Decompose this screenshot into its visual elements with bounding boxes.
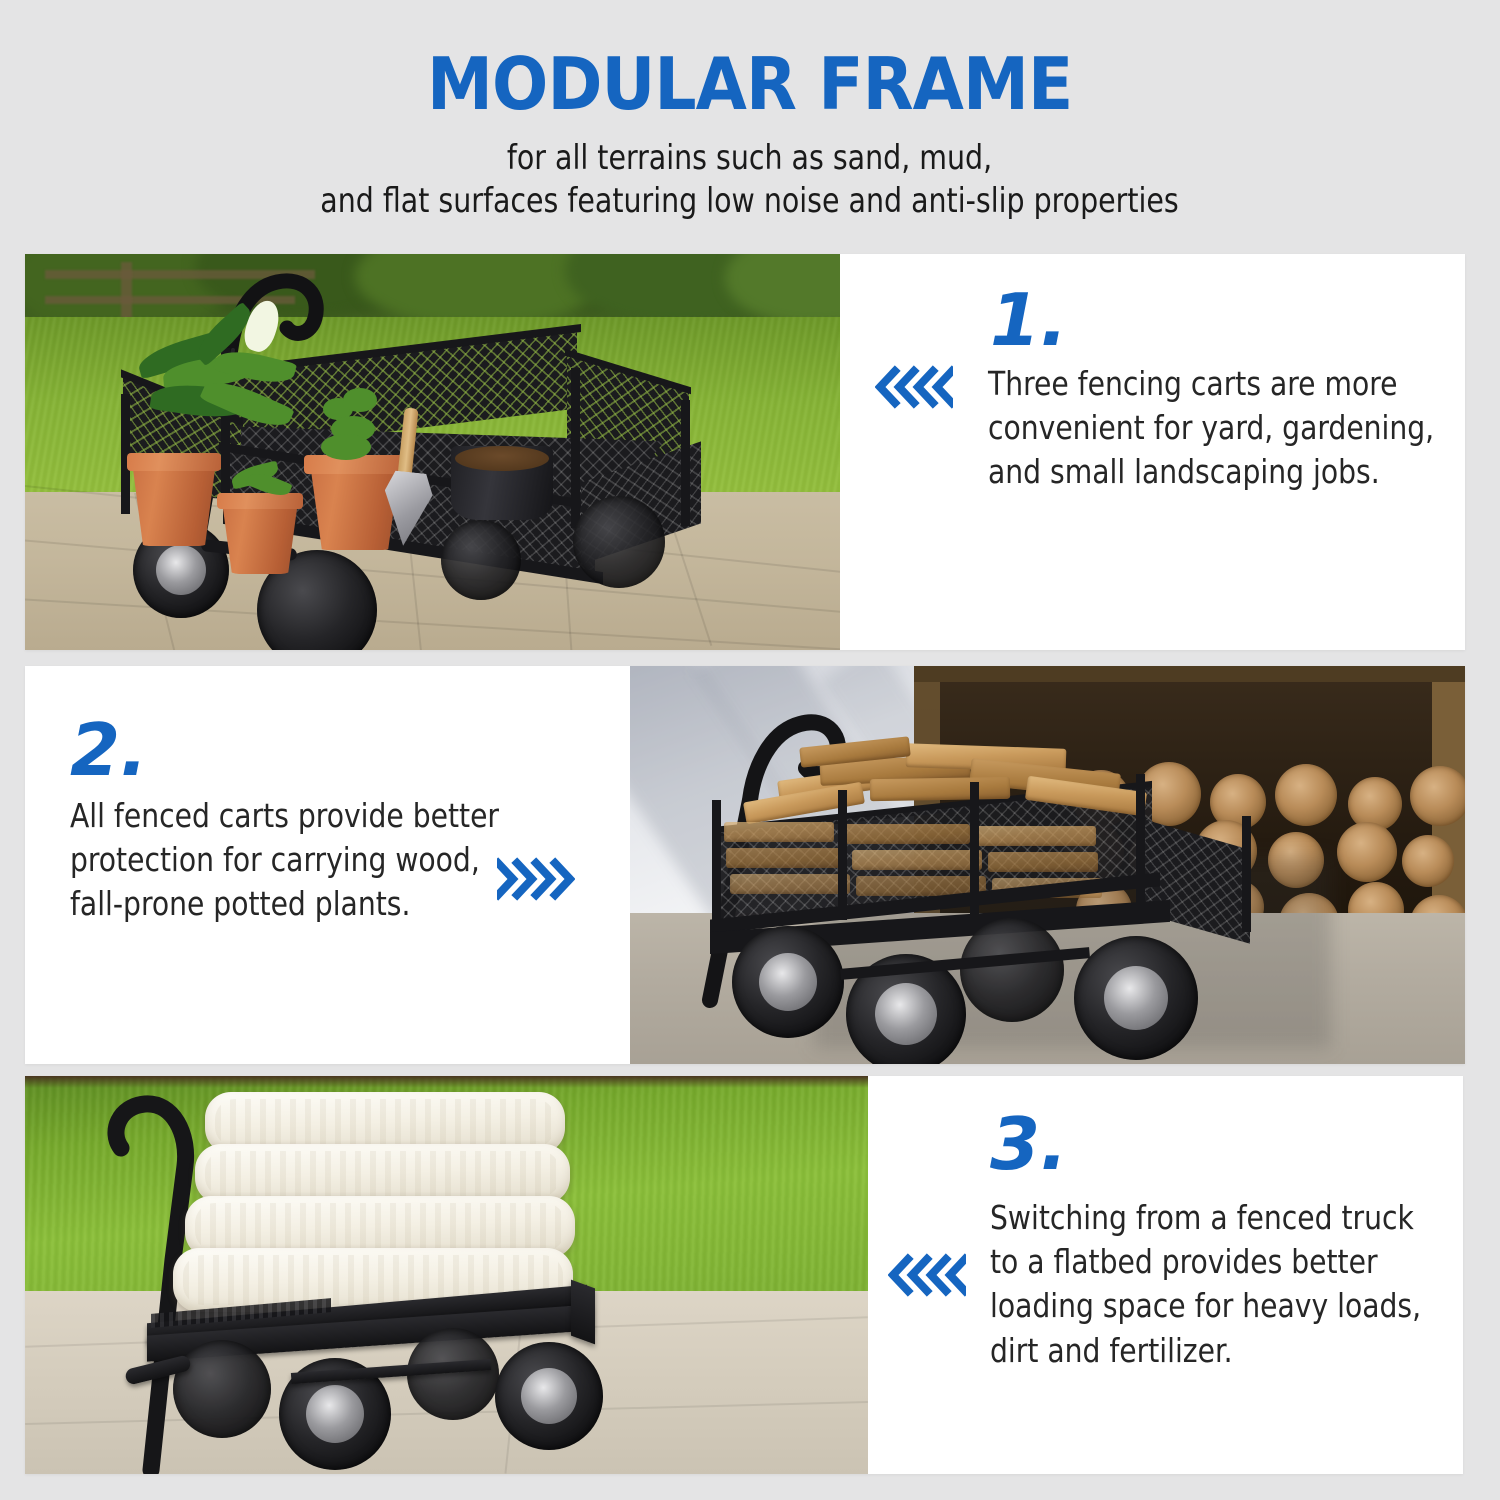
feature-description-1: Three fencing carts are more convenient …: [988, 362, 1435, 495]
page-subtitle: for all terrains such as sand, mud, and …: [321, 137, 1179, 222]
feature-description-3: Switching from a fenced truck to a flatb…: [990, 1196, 1446, 1373]
subtitle-line-2: and flat surfaces featuring low noise an…: [321, 180, 1179, 223]
chevron-left-icon-3: [888, 1252, 966, 1298]
chevron-right-icon-2: [497, 856, 575, 902]
cart-photo-garden: [25, 254, 840, 650]
feature-text-1: 1. Three fencing carts are more convenie…: [870, 254, 1465, 650]
garden-cart-illustration: [105, 344, 735, 634]
cart-photo-flatbed: [25, 1076, 868, 1474]
step-number-2: 2.: [70, 714, 147, 786]
feature-card-1: 1. Three fencing carts are more convenie…: [25, 254, 1465, 650]
feature-text-2: 2. All fenced carts provide better prote…: [25, 666, 625, 1064]
firewood-cart-illustration: [670, 776, 1310, 1056]
step-number-1: 1.: [990, 284, 1067, 356]
feature-card-2: 2. All fenced carts provide better prote…: [25, 666, 1465, 1064]
step-number-3: 3.: [990, 1108, 1067, 1180]
chevron-left-icon-1: [875, 364, 953, 410]
feature-description-2: All fenced carts provide better protecti…: [70, 794, 507, 927]
promo-infographic: MODULAR FRAME for all terrains such as s…: [0, 0, 1500, 1500]
feature-card-3: 3. Switching from a fenced truck to a fl…: [25, 1076, 1463, 1474]
page-title: MODULAR FRAME: [427, 48, 1072, 121]
flatbed-cart-illustration: [85, 1266, 675, 1466]
cart-photo-firewood: [630, 666, 1465, 1064]
header: MODULAR FRAME for all terrains such as s…: [0, 0, 1500, 252]
feature-text-3: 3. Switching from a fenced truck to a fl…: [880, 1076, 1463, 1474]
subtitle-line-1: for all terrains such as sand, mud,: [321, 137, 1179, 180]
